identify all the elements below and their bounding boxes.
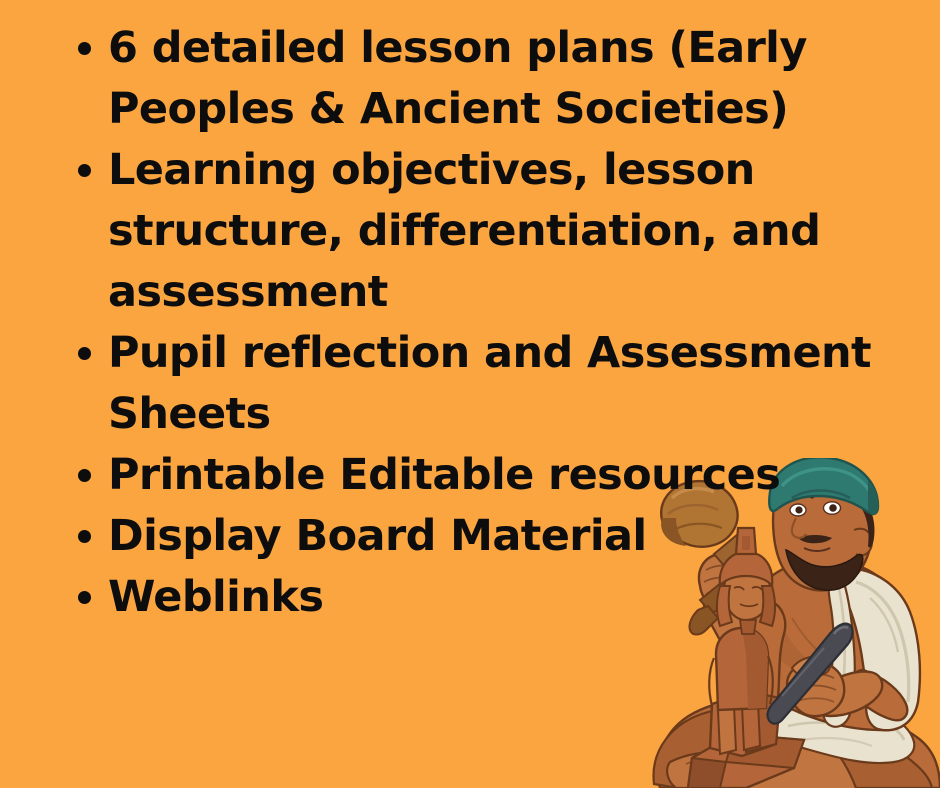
bullet-dot-icon — [78, 591, 91, 604]
bullet-dot-icon — [78, 530, 91, 543]
bullet-dot-icon — [78, 469, 91, 482]
bullet-dot-icon — [78, 164, 91, 177]
feature-bullet-list: 6 detailed lesson plans (Early Peoples &… — [0, 0, 900, 628]
bullet-dot-icon — [78, 42, 91, 55]
list-item-label: 6 detailed lesson plans (Early Peoples &… — [108, 18, 886, 140]
list-item: Pupil reflection and Assessment Sheets — [108, 323, 886, 445]
list-item: 6 detailed lesson plans (Early Peoples &… — [108, 18, 886, 140]
list-item: Display Board Material — [108, 506, 886, 567]
slide-canvas: 6 detailed lesson plans (Early Peoples &… — [0, 0, 940, 788]
list-item-label: Learning objectives, lesson structure, d… — [108, 140, 886, 323]
list-item: Weblinks — [108, 567, 886, 628]
list-item-label: Weblinks — [108, 567, 886, 628]
list-item-label: Printable Editable resources — [108, 445, 886, 506]
list-item: Learning objectives, lesson structure, d… — [108, 140, 886, 323]
list-item: Printable Editable resources — [108, 445, 886, 506]
list-item-label: Pupil reflection and Assessment Sheets — [108, 323, 886, 445]
list-item-label: Display Board Material — [108, 506, 886, 567]
bullet-dot-icon — [78, 347, 91, 360]
